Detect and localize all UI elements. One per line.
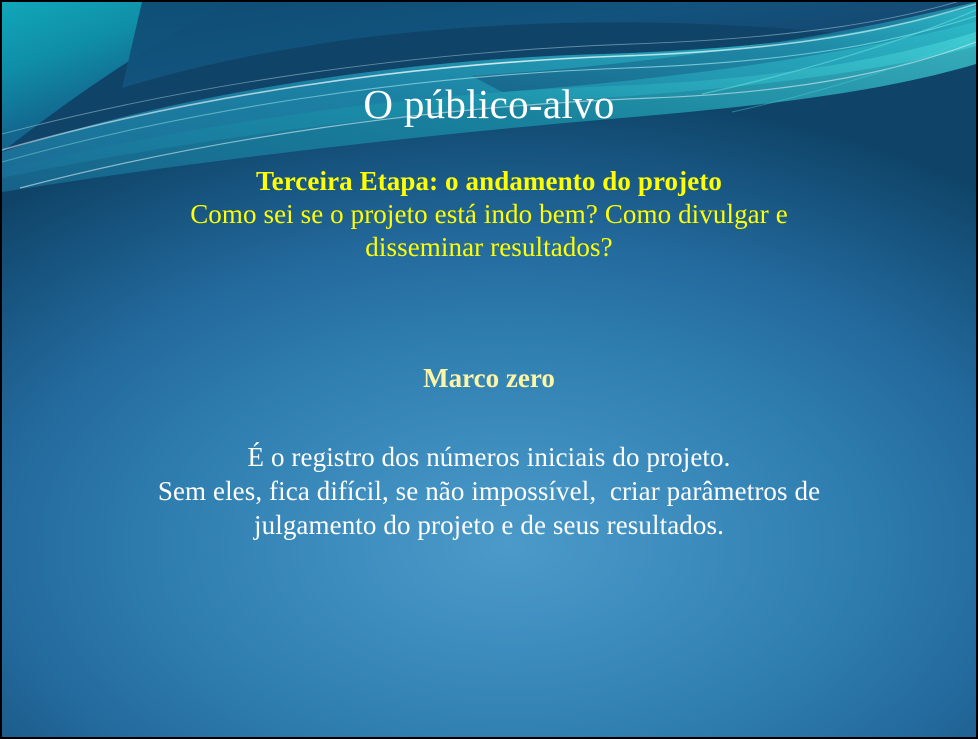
body-line-2: Sem eles, fica difícil, se não impossíve… (2, 474, 976, 508)
slide-title: O público-alvo (2, 79, 976, 129)
marco-zero-heading: Marco zero (2, 362, 976, 395)
stage-line-1: Como sei se o projeto está indo bem? Com… (2, 198, 976, 231)
stage-line-2: disseminar resultados? (2, 231, 976, 264)
stage-heading: Terceira Etapa: o andamento do projeto (2, 165, 976, 198)
body-text-block: É o registro dos números iniciais do pro… (2, 440, 976, 542)
stage-text-block: Terceira Etapa: o andamento do projeto C… (2, 165, 976, 264)
body-line-1: É o registro dos números iniciais do pro… (2, 440, 976, 474)
body-line-3: julgamento do projeto e de seus resultad… (2, 508, 976, 542)
presentation-slide: O público-alvo Terceira Etapa: o andamen… (0, 0, 978, 739)
